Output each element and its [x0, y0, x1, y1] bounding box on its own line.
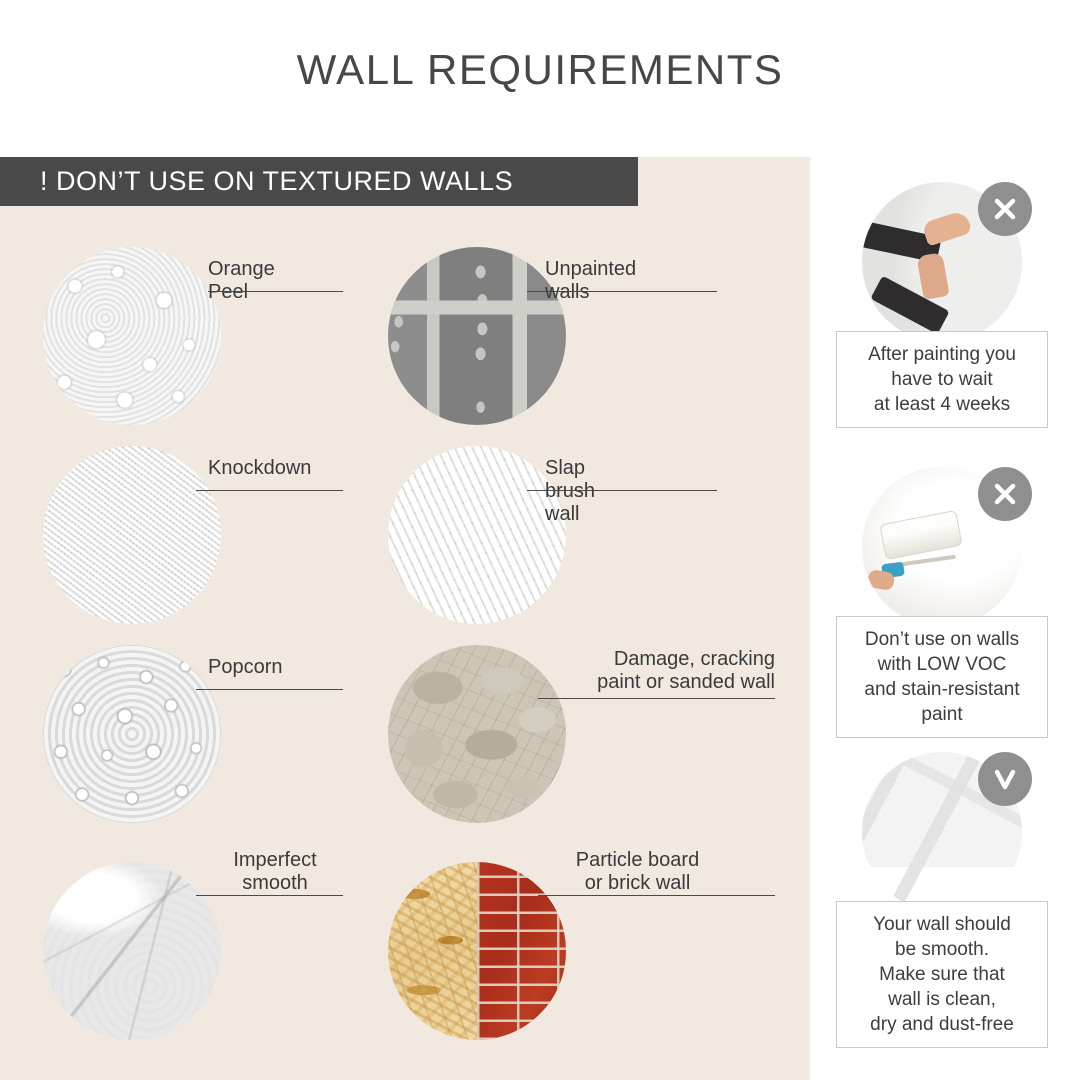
- texture-underline: [196, 689, 343, 690]
- unpainted-wall-swatch: [388, 247, 566, 425]
- texture-underline: [196, 490, 343, 491]
- texture-label-popcorn: Popcorn: [208, 656, 283, 683]
- texture-underline: [527, 291, 717, 292]
- check-icon: [978, 752, 1032, 806]
- page-title: WALL REQUIREMENTS: [0, 46, 1080, 94]
- note-caption-wait-4-weeks: After painting you have to wait at least…: [836, 331, 1048, 428]
- texture-underline: [538, 895, 775, 896]
- texture-label-damage-cracking: Damage, cracking paint or sanded wall: [545, 648, 775, 698]
- roller-sleeve-shape: [879, 510, 962, 560]
- warning-banner-label: ! DON’T USE ON TEXTURED WALLS: [0, 166, 513, 197]
- slap-brush-texture-swatch: [388, 446, 566, 624]
- cross-icon: [978, 182, 1032, 236]
- texture-label-orange-peel: Orange Peel: [208, 258, 275, 308]
- hand-shape: [921, 209, 972, 246]
- texture-label-unpainted-walls: Unpainted walls: [545, 258, 636, 308]
- texture-underline: [196, 895, 343, 896]
- damaged-wall-swatch: [388, 645, 566, 823]
- imperfect-smooth-swatch: [43, 862, 221, 1040]
- note-caption-smooth-wall: Your wall should be smooth. Make sure th…: [836, 901, 1048, 1048]
- orange-peel-texture-swatch: [43, 247, 221, 425]
- knockdown-texture-swatch: [43, 446, 221, 624]
- texture-underline: [538, 698, 775, 699]
- hand-shape: [916, 252, 949, 300]
- particle-board-half: [388, 862, 477, 1040]
- particle-board-brick-swatch: [388, 862, 566, 1040]
- texture-label-slap-brush-wall: Slap brush wall: [545, 457, 595, 530]
- texture-underline: [527, 490, 717, 491]
- texture-label-knockdown: Knockdown: [208, 457, 311, 484]
- warning-banner: ! DON’T USE ON TEXTURED WALLS: [0, 157, 638, 206]
- cross-icon: [978, 467, 1032, 521]
- note-caption-low-voc: Don’t use on walls with LOW VOC and stai…: [836, 616, 1048, 738]
- texture-label-particle-board-brick: Particle board or brick wall: [545, 849, 730, 899]
- texture-underline: [208, 291, 343, 292]
- texture-label-imperfect-smooth: Imperfect smooth: [205, 849, 345, 899]
- popcorn-texture-swatch: [43, 645, 221, 823]
